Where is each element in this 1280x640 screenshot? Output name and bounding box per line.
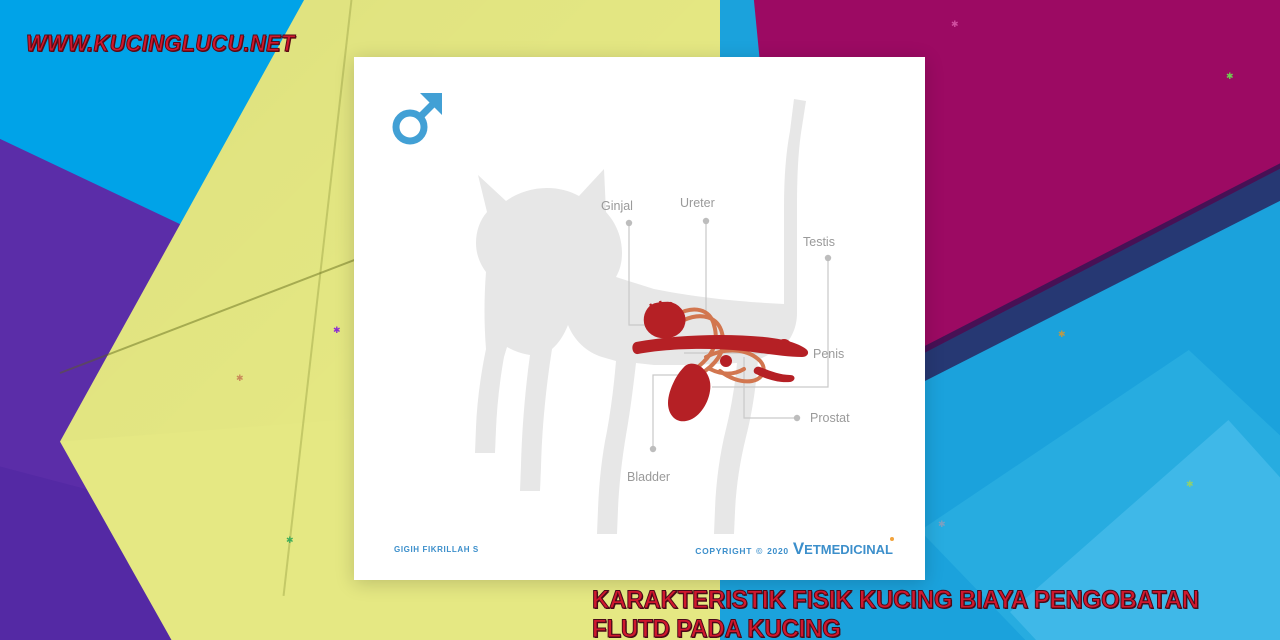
confetti-star-1: ✱ <box>236 374 244 383</box>
screenshot-root: ✱✱✱✱✱✱✱✱✱✱✱ <box>0 0 1280 640</box>
leader-dot-testis <box>825 255 831 261</box>
vetmedicinal-logo: VETMEDICINAL <box>793 542 893 556</box>
copyright-text: COPYRIGHT <box>695 546 752 556</box>
confetti-star-10: ✱ <box>951 20 959 29</box>
prostate-organ <box>720 355 732 367</box>
confetti-star-6: ✱ <box>1058 330 1066 339</box>
confetti-star-7: ✱ <box>1186 480 1194 489</box>
bladder-organ <box>668 364 710 422</box>
confetti-star-2: ✱ <box>286 536 294 545</box>
leader-dot-bladder <box>650 446 656 452</box>
cat-anatomy-illustration <box>354 57 925 580</box>
leader-dot-prostat <box>794 415 800 421</box>
leader-dot-ureter <box>703 218 709 224</box>
kidney-organ <box>645 301 684 337</box>
brand-initial: V <box>793 539 804 558</box>
copyright-year: 2020 <box>767 546 789 556</box>
label-testis: Testis <box>803 235 835 249</box>
label-bladder: Bladder <box>627 470 670 484</box>
label-prostat: Prostat <box>810 411 850 425</box>
cat-silhouette <box>475 99 806 534</box>
site-watermark: WWW.KUCINGLUCU.NET <box>26 30 295 57</box>
confetti-star-5: ✱ <box>1226 72 1234 81</box>
leader-dot-ginjal <box>626 220 632 226</box>
copyright-credit: COPYRIGHT © 2020 VETMEDICINAL <box>695 542 893 556</box>
label-ginjal: Ginjal <box>601 199 633 213</box>
brand-name: ETMEDICINAL <box>804 542 893 557</box>
label-ureter: Ureter <box>680 196 715 210</box>
confetti-star-8: ✱ <box>938 520 946 529</box>
diagram-card: GinjalUreterTestisPenisProstatBladder GI… <box>354 57 925 580</box>
author-credit: GIGIH FIKRILLAH S <box>394 545 479 554</box>
caption-watermark: KARAKTERISTIK FISIK KUCING BIAYA PENGOBA… <box>592 586 1252 640</box>
copyright-symbol: © <box>756 546 763 556</box>
confetti-star-0: ✱ <box>333 326 341 335</box>
brand-dot-icon <box>890 537 894 541</box>
testis-organ <box>776 339 792 355</box>
label-penis: Penis <box>813 347 844 361</box>
